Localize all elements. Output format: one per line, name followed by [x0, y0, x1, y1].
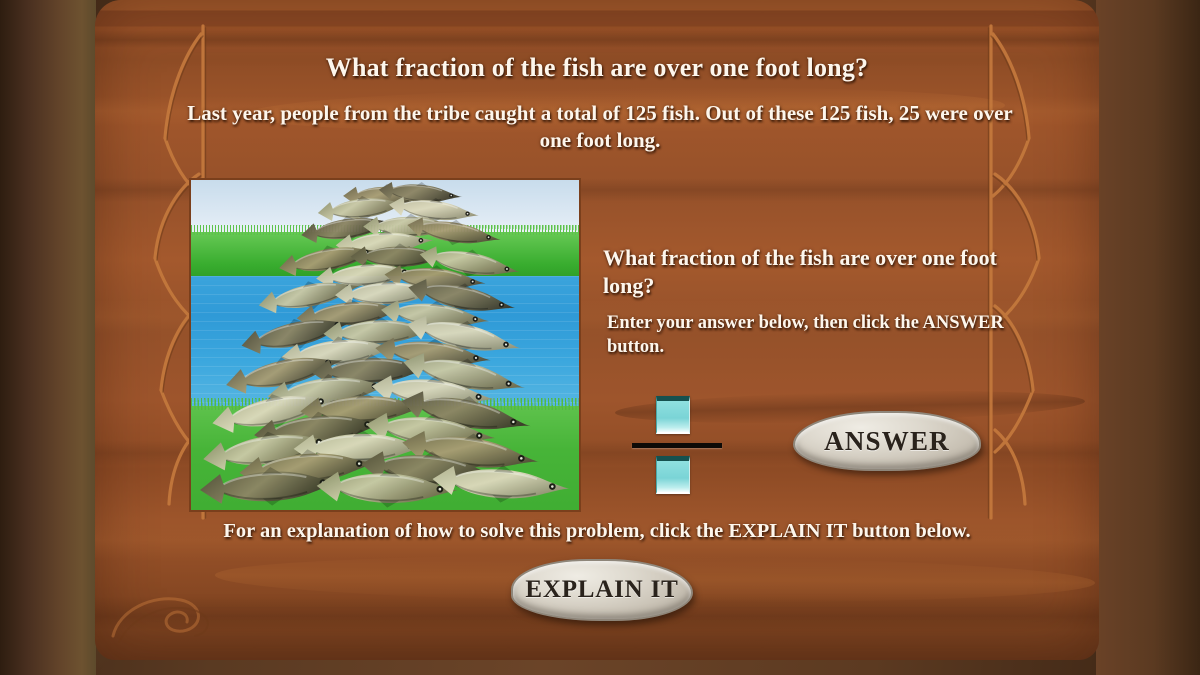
footer-text: For an explanation of how to solve this …: [125, 518, 1069, 544]
backdrop-right-gradient: [1096, 0, 1200, 675]
fish-pile-icon: [191, 180, 579, 511]
denominator-input[interactable]: [656, 456, 690, 494]
fish-illustration: [189, 178, 581, 512]
instruction-text: Enter your answer below, then click the …: [607, 312, 1017, 359]
problem-statement: Last year, people from the tribe caught …: [175, 100, 1025, 154]
question-text: What fraction of the fish are over one f…: [603, 244, 1003, 300]
fraction-bar: [632, 443, 722, 448]
explain-it-button[interactable]: EXPLAIN IT: [511, 559, 693, 621]
page-title: What fraction of the fish are over one f…: [95, 51, 1099, 84]
answer-button[interactable]: ANSWER: [793, 411, 981, 471]
numerator-input[interactable]: [656, 396, 690, 434]
fraction-input-group: [632, 396, 752, 496]
content-layer: What fraction of the fish are over one f…: [95, 0, 1099, 660]
